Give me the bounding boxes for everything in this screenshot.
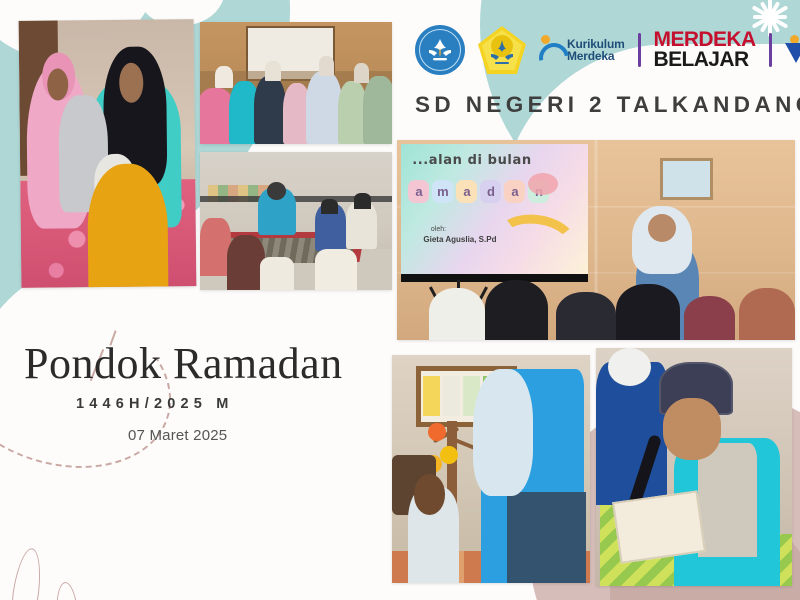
slide-by-label: oleh:	[431, 226, 446, 233]
logo-divider	[769, 33, 772, 67]
poster-canvas: ...alan di bulan a m a d a n oleh: Gieta…	[0, 0, 800, 600]
photo-congregation-hall	[200, 22, 392, 144]
merdeka-mengajar-logo: Merdeka Mengajar	[785, 35, 800, 65]
photo-teacher-students-mat	[200, 152, 392, 290]
photo-projector-presentation: ...alan di bulan a m a d a n oleh: Gieta…	[397, 140, 795, 340]
page-title: Pondok Ramadan	[24, 338, 343, 389]
partner-logo-row: Kurikulum Merdeka MERDEKA BELAJAR Merdek…	[415, 22, 800, 78]
merdeka-belajar-logo: MERDEKA BELAJAR	[654, 30, 756, 69]
pentagon-logo	[478, 26, 526, 74]
school-name: SD NEGERI 2 TALKANDANG	[415, 92, 795, 118]
merdeka-belajar-line2: BELAJAR	[654, 50, 756, 70]
event-date: 07 Maret 2025	[128, 427, 227, 444]
photo-boy-reading-quran	[596, 348, 792, 586]
kurikulum-merdeka-logo: Kurikulum Merdeka	[539, 35, 625, 65]
photo-women-children-mat	[19, 19, 197, 288]
photo-teacher-greeting-student	[392, 355, 590, 583]
slide-heading: ...alan di bulan	[412, 153, 532, 168]
hijri-gregorian-year: 1446H/2025 M	[76, 396, 234, 412]
tut-wuri-handayani-logo	[415, 25, 465, 75]
kurikulum-merdeka-mark-icon	[539, 35, 561, 65]
slide-presenter: Gieta Aguslia, S.Pd	[423, 235, 496, 244]
merdeka-mengajar-mark-icon	[785, 35, 800, 65]
kurikulum-merdeka-line2: Merdeka	[567, 50, 625, 62]
logo-divider	[638, 33, 641, 67]
